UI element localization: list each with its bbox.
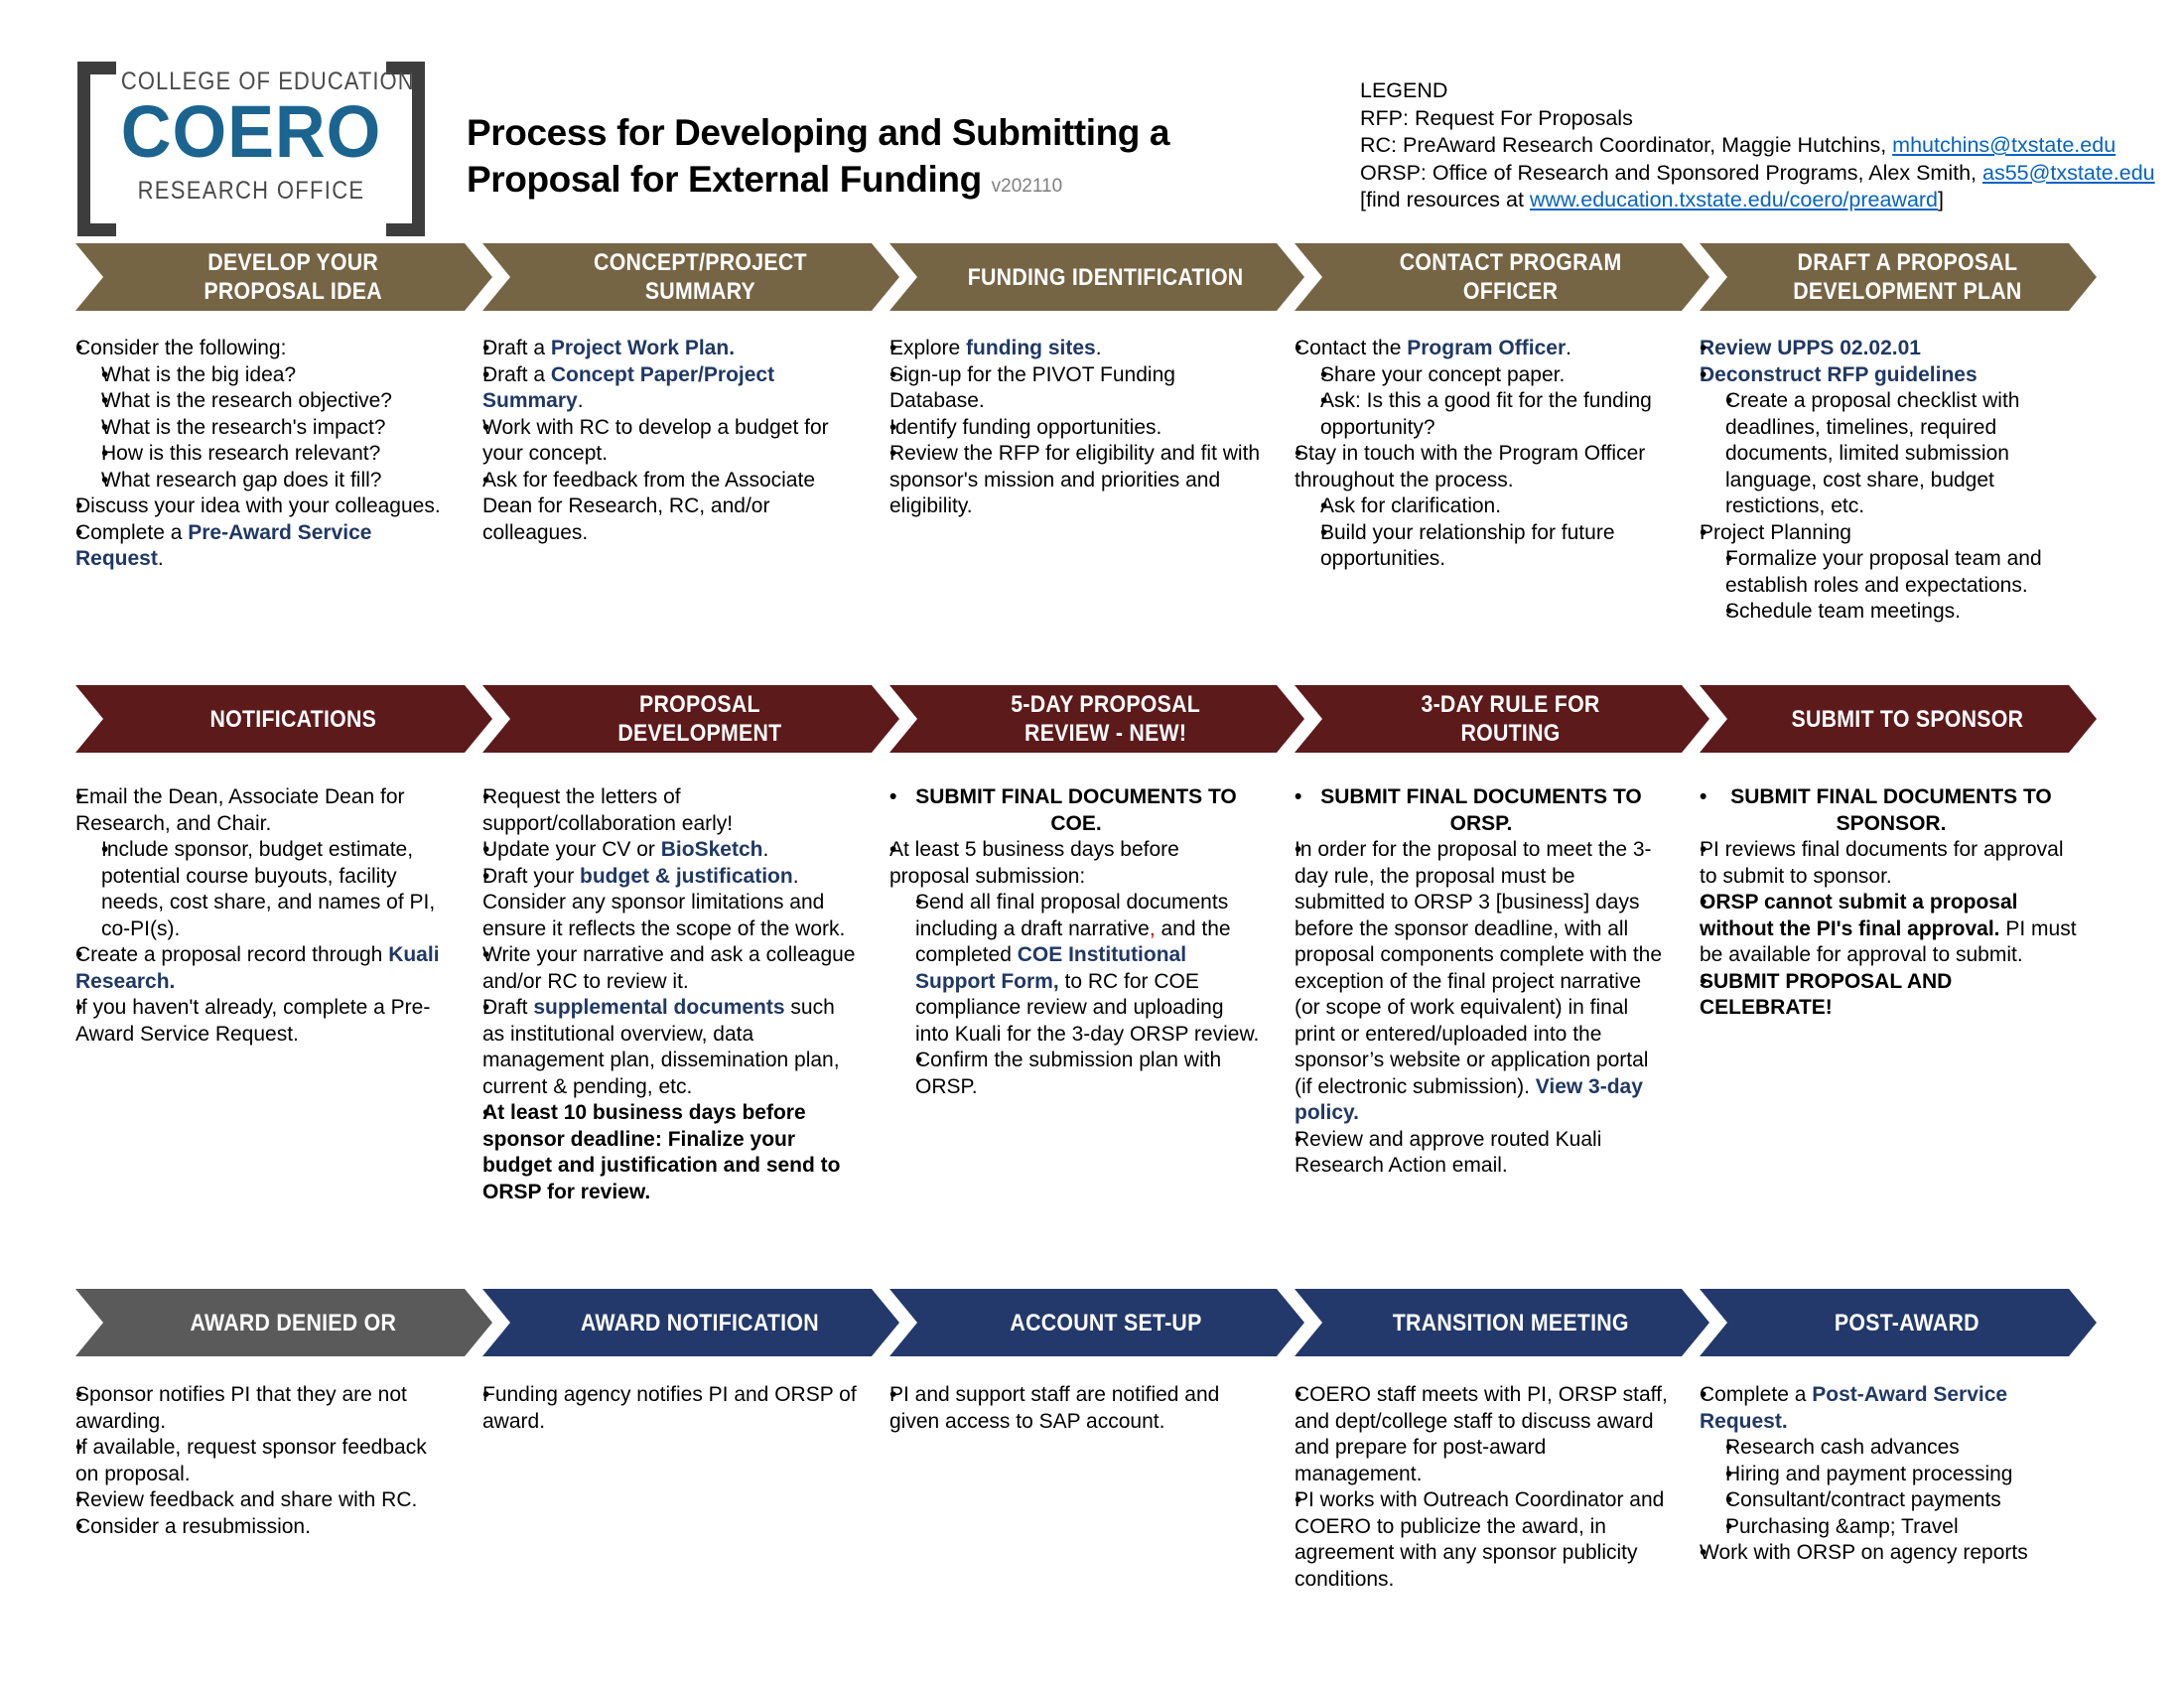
list-item-text: ORSP cannot submit a proposal without th… [1700, 890, 2083, 969]
list-item-text: In order for the proposal to meet the 3-… [1295, 837, 1668, 1127]
legend-resources-prefix: [find resources at [1360, 188, 1530, 211]
list-item: Contact the Program Officer.Share your c… [1281, 336, 1668, 441]
list-item-text: Consultant/contract payments [1725, 1487, 2083, 1514]
chevron-label: 5-DAY PROPOSAL REVIEW - NEW! [1012, 690, 1201, 748]
list-item-text: Review feedback and share with RC. [75, 1487, 447, 1514]
list-item-text: Complete a Pre-Award Service Request. [75, 520, 447, 573]
list-item: Build your relationship for future oppor… [1306, 520, 1668, 573]
bullet-sublist: Formalize your proposal team and establi… [1711, 546, 2083, 626]
list-item: COERO staff meets with PI, ORSP staff, a… [1281, 1382, 1668, 1487]
chevron-label: FUNDING IDENTIFICATION [968, 263, 1244, 292]
chevron-label: ACCOUNT SET-UP [1010, 1309, 1201, 1337]
legend-rfp: RFP: Request For Proposals [1360, 105, 2155, 133]
legend-rc-email-link[interactable]: mhutchins@txstate.edu [1892, 133, 2116, 157]
list-item-text: Sponsor notifies PI that they are not aw… [75, 1382, 447, 1435]
column-row-2-4: SUBMIT FINAL DOCUMENTS TO ORSP.In order … [1281, 784, 1668, 1180]
bullet-list: SUBMIT FINAL DOCUMENTS TO SPONSOR.PI rev… [1686, 784, 2083, 1022]
row-3-chevron-band: AWARD DENIED ORAWARD NOTIFICATIONACCOUNT… [75, 1289, 2097, 1356]
list-item: What is the big idea? [87, 362, 447, 389]
version-label: v202110 [992, 176, 1063, 197]
list-item-text: Build your relationship for future oppor… [1320, 520, 1668, 573]
chevron-row-3-4[interactable]: TRANSITION MEETING [1295, 1289, 1709, 1356]
chevron-row-1-1[interactable]: DEVELOP YOUR PROPOSAL IDEA [75, 243, 492, 311]
bullet-list: Explore funding sites.Sign-up for the PI… [876, 336, 1263, 520]
legend-resources-link[interactable]: www.education.txstate.edu/coero/preaward [1530, 188, 1938, 211]
list-item: Consider a resubmission. [62, 1514, 447, 1541]
bullet-list: Sponsor notifies PI that they are not aw… [62, 1382, 447, 1540]
list-item-text: Explore funding sites. [889, 336, 1263, 362]
legend-orsp: ORSP: Office of Research and Sponsored P… [1360, 160, 2155, 188]
chevron-row-1-5[interactable]: DRAFT A PROPOSAL DEVELOPMENT PLAN [1700, 243, 2097, 311]
chevron-label: AWARD NOTIFICATION [581, 1309, 819, 1337]
page-title: Process for Developing and Submitting a … [467, 109, 1320, 210]
infographic-page: COLLEGE OF EDUCATION COERO RESEARCH OFFI… [0, 0, 2184, 1688]
logo-research-office-text: RESEARCH OFFICE [121, 177, 381, 206]
column-row-3-2: Funding agency notifies PI and ORSP of a… [469, 1382, 858, 1435]
list-item: Draft supplemental documents such as ins… [469, 995, 858, 1100]
list-item: Discuss your idea with your colleagues. [62, 493, 447, 520]
chevron-row-1-2[interactable]: CONCEPT/PROJECT SUMMARY [482, 243, 899, 311]
chevron-label: SUBMIT TO SPONSOR [1791, 705, 2023, 734]
list-item: Ask for clarification. [1306, 493, 1668, 520]
list-item-text: Update your CV or BioSketch. [482, 837, 858, 864]
list-item-text: What is the big idea? [101, 362, 447, 389]
list-item-text: Deconstruct RFP guidelines [1700, 362, 2083, 389]
list-item-text: Ask for feedback from the Associate Dean… [482, 468, 858, 547]
bullet-sublist: Research cash advancesHiring and payment… [1711, 1435, 2083, 1540]
chevron-label: DEVELOP YOUR PROPOSAL IDEA [204, 248, 381, 306]
list-item: If you haven't already, complete a Pre-A… [62, 995, 447, 1048]
list-item: Purchasing &amp; Travel [1711, 1514, 2083, 1541]
list-item: Identify funding opportunities. [876, 415, 1263, 442]
chevron-row-3-5[interactable]: POST-AWARD [1700, 1289, 2097, 1356]
list-item: Formalize your proposal team and establi… [1711, 546, 2083, 599]
list-item-text: SUBMIT FINAL DOCUMENTS TO SPONSOR. [1700, 784, 2083, 837]
legend-heading: LEGEND [1360, 77, 2155, 105]
list-item: PI reviews final documents for approval … [1686, 837, 2083, 890]
column-row-2-2: Request the letters of support/collabora… [469, 784, 858, 1205]
chevron-row-3-3[interactable]: ACCOUNT SET-UP [889, 1289, 1304, 1356]
list-item: Send all final proposal documents includ… [901, 890, 1263, 1048]
page-title-line-2: Proposal for External Funding [467, 159, 982, 200]
list-item-text: Draft your budget & justification. Consi… [482, 864, 858, 943]
list-item-text: Research cash advances [1725, 1435, 2083, 1462]
list-item: Ask for feedback from the Associate Dean… [469, 468, 858, 547]
list-item-text: Schedule team meetings. [1725, 599, 2083, 626]
list-item: Complete a Post-Award Service Request.Re… [1686, 1382, 2083, 1540]
chevron-label: NOTIFICATIONS [209, 705, 376, 734]
list-item: PI works with Outreach Coordinator and C… [1281, 1487, 1668, 1593]
list-item: Consultant/contract payments [1711, 1487, 2083, 1514]
list-item-text: Send all final proposal documents includ… [915, 890, 1263, 1048]
list-item-text: COERO staff meets with PI, ORSP staff, a… [1295, 1382, 1668, 1487]
column-row-1-2: Draft a Project Work Plan.Draft a Concep… [469, 336, 858, 546]
list-item-text: Review and approve routed Kuali Research… [1295, 1127, 1668, 1180]
legend-orsp-email-link[interactable]: as55@txstate.edu [1982, 161, 2155, 185]
list-item-text: Formalize your proposal team and establi… [1725, 546, 2083, 599]
list-item: ORSP cannot submit a proposal without th… [1686, 890, 2083, 969]
list-item: Create a proposal record through Kuali R… [62, 942, 447, 995]
bullet-list: Consider the following:What is the big i… [62, 336, 447, 573]
list-item-text: Stay in touch with the Program Officer t… [1295, 441, 1668, 493]
bullet-list: SUBMIT FINAL DOCUMENTS TO COE.At least 5… [876, 784, 1263, 1100]
list-item: Include sponsor, budget estimate, potent… [87, 837, 447, 942]
chevron-row-3-2[interactable]: AWARD NOTIFICATION [482, 1289, 899, 1356]
list-item: Hiring and payment processing [1711, 1462, 2083, 1488]
column-row-1-1: Consider the following:What is the big i… [62, 336, 447, 573]
column-row-3-4: COERO staff meets with PI, ORSP staff, a… [1281, 1382, 1668, 1593]
list-item: Schedule team meetings. [1711, 599, 2083, 626]
list-item-text: Work with RC to develop a budget for you… [482, 415, 858, 468]
chevron-row-3-1[interactable]: AWARD DENIED OR [75, 1289, 492, 1356]
column-row-3-1: Sponsor notifies PI that they are not aw… [62, 1382, 447, 1540]
list-item-text: If available, request sponsor feedback o… [75, 1435, 447, 1487]
chevron-label: AWARD DENIED OR [190, 1309, 396, 1337]
list-item-text: Write your narrative and ask a colleague… [482, 942, 858, 995]
list-item: Stay in touch with the Program Officer t… [1281, 441, 1668, 573]
list-item-text: Identify funding opportunities. [889, 415, 1263, 442]
column-row-1-3: Explore funding sites.Sign-up for the PI… [876, 336, 1263, 520]
legend-orsp-text: ORSP: Office of Research and Sponsored P… [1360, 161, 1982, 185]
list-item-text: Sign-up for the PIVOT Funding Database. [889, 362, 1263, 415]
list-item-text: Discuss your idea with your colleagues. [75, 493, 447, 520]
column-row-2-3: SUBMIT FINAL DOCUMENTS TO COE.At least 5… [876, 784, 1263, 1100]
list-item-text: Request the letters of support/collabora… [482, 784, 858, 837]
column-row-1-5: Review UPPS 02.02.01Deconstruct RFP guid… [1686, 336, 2083, 626]
column-row-3-5: Complete a Post-Award Service Request.Re… [1686, 1382, 2083, 1567]
list-item: Sponsor notifies PI that they are not aw… [62, 1382, 447, 1435]
list-item-text: Work with ORSP on agency reports [1700, 1540, 2083, 1567]
list-item: Update your CV or BioSketch. [469, 837, 858, 864]
list-item: If available, request sponsor feedback o… [62, 1435, 447, 1487]
bullet-list: Draft a Project Work Plan.Draft a Concep… [469, 336, 858, 546]
legend-rc: RC: PreAward Research Coordinator, Maggi… [1360, 132, 2155, 160]
bullet-sublist: Ask for clarification.Build your relatio… [1306, 493, 1668, 573]
legend-resources-suffix: ] [1938, 188, 1944, 211]
list-item-text: PI reviews final documents for approval … [1700, 837, 2083, 890]
list-item: Draft your budget & justification. Consi… [469, 864, 858, 943]
list-item: Work with RC to develop a budget for you… [469, 415, 858, 468]
bullet-sublist: What is the big idea?What is the researc… [87, 362, 447, 494]
bullet-list: PI and support staff are notified and gi… [876, 1382, 1263, 1435]
legend-resources: [find resources at www.education.txstate… [1360, 187, 2155, 214]
bullet-list: COERO staff meets with PI, ORSP staff, a… [1281, 1382, 1668, 1593]
document-header: COLLEGE OF EDUCATION COERO RESEARCH OFFI… [0, 0, 2184, 230]
list-item-text: Review UPPS 02.02.01 [1700, 336, 2083, 362]
chevron-row-2-1[interactable]: NOTIFICATIONS [75, 685, 492, 753]
list-item: Draft a Concept Paper/Project Summary. [469, 362, 858, 415]
list-item-text: Complete a Post-Award Service Request. [1700, 1382, 2083, 1435]
chevron-row-2-3[interactable]: 5-DAY PROPOSAL REVIEW - NEW! [889, 685, 1304, 753]
list-item-text: Create a proposal record through Kuali R… [75, 942, 447, 995]
list-item-text: At least 5 business days before proposal… [889, 837, 1263, 890]
chevron-row-1-3[interactable]: FUNDING IDENTIFICATION [889, 243, 1304, 311]
list-item: Research cash advances [1711, 1435, 2083, 1462]
list-item: Request the letters of support/collabora… [469, 784, 858, 837]
list-item: Create a proposal checklist with deadlin… [1711, 388, 2083, 520]
list-item-text: At least 10 business days before sponsor… [482, 1100, 858, 1205]
chevron-label: CONTACT PROGRAM OFFICER [1400, 248, 1622, 306]
list-item: Share your concept paper. [1306, 362, 1668, 389]
list-item-text: SUBMIT PROPOSAL AND CELEBRATE! [1700, 969, 2083, 1022]
chevron-label: DRAFT A PROPOSAL DEVELOPMENT PLAN [1793, 248, 2021, 306]
list-item-text: What is the research objective? [101, 388, 447, 415]
list-item: Confirm the submission plan with ORSP. [901, 1048, 1263, 1100]
list-item: Project PlanningFormalize your proposal … [1686, 520, 2083, 626]
row-1-chevron-band: DEVELOP YOUR PROPOSAL IDEACONCEPT/PROJEC… [75, 243, 2097, 311]
list-item: PI and support staff are notified and gi… [876, 1382, 1263, 1435]
list-item: Complete a Pre-Award Service Request. [62, 520, 447, 573]
list-item: In order for the proposal to meet the 3-… [1281, 837, 1668, 1127]
bullet-list: Contact the Program Officer.Share your c… [1281, 336, 1668, 573]
column-row-2-1: Email the Dean, Associate Dean for Resea… [62, 784, 447, 1048]
list-item-text: Include sponsor, budget estimate, potent… [101, 837, 447, 942]
list-item: SUBMIT FINAL DOCUMENTS TO SPONSOR. [1686, 784, 2083, 837]
legend-rc-text: RC: PreAward Research Coordinator, Maggi… [1360, 133, 1892, 157]
bullet-list: Review UPPS 02.02.01Deconstruct RFP guid… [1686, 336, 2083, 626]
list-item: At least 10 business days before sponsor… [469, 1100, 858, 1205]
list-item: Review and approve routed Kuali Research… [1281, 1127, 1668, 1180]
list-item: Work with ORSP on agency reports [1686, 1540, 2083, 1567]
list-item-text: SUBMIT FINAL DOCUMENTS TO ORSP. [1295, 784, 1668, 837]
list-item-text: What is the research's impact? [101, 415, 447, 442]
bullet-list: SUBMIT FINAL DOCUMENTS TO ORSP.In order … [1281, 784, 1668, 1180]
bullet-sublist: Include sponsor, budget estimate, potent… [87, 837, 447, 942]
bullet-sublist: Create a proposal checklist with deadlin… [1711, 388, 2083, 520]
bullet-sublist: Share your concept paper.Ask: Is this a … [1306, 362, 1668, 442]
list-item-text: Consider a resubmission. [75, 1514, 447, 1541]
bullet-sublist: Send all final proposal documents includ… [901, 890, 1263, 1100]
list-item: Review the RFP for eligibility and fit w… [876, 441, 1263, 520]
list-item: Deconstruct RFP guidelinesCreate a propo… [1686, 362, 2083, 520]
list-item: SUBMIT FINAL DOCUMENTS TO ORSP. [1281, 784, 1668, 837]
chevron-row-2-4[interactable]: 3-DAY RULE FOR ROUTING [1295, 685, 1709, 753]
chevron-label: 3-DAY RULE FOR ROUTING [1422, 690, 1600, 748]
list-item-text: Share your concept paper. [1320, 362, 1668, 389]
list-item: What is the research objective? [87, 388, 447, 415]
list-item-text: Project Planning [1700, 520, 2083, 547]
chevron-label: TRANSITION MEETING [1393, 1309, 1629, 1337]
list-item-text: Draft a Concept Paper/Project Summary. [482, 362, 858, 415]
chevron-label: POST-AWARD [1835, 1309, 1979, 1337]
list-item: Explore funding sites. [876, 336, 1263, 362]
chevron-label: CONCEPT/PROJECT SUMMARY [594, 248, 807, 306]
list-item-text: Create a proposal checklist with deadlin… [1725, 388, 2083, 520]
logo-coero-text: COERO [110, 89, 391, 175]
bullet-list: Funding agency notifies PI and ORSP of a… [469, 1382, 858, 1435]
list-item-text: If you haven't already, complete a Pre-A… [75, 995, 447, 1048]
chevron-row-2-5[interactable]: SUBMIT TO SPONSOR [1700, 685, 2097, 753]
column-row-3-3: PI and support staff are notified and gi… [876, 1382, 1263, 1435]
list-item: Draft a Project Work Plan. [469, 336, 858, 362]
list-item-text: Ask for clarification. [1320, 493, 1668, 520]
list-item-text: Draft supplemental documents such as ins… [482, 995, 858, 1100]
list-item: Ask: Is this a good fit for the funding … [1306, 388, 1668, 441]
list-item-text: Hiring and payment processing [1725, 1462, 2083, 1488]
list-item-text: PI works with Outreach Coordinator and C… [1295, 1487, 1668, 1593]
chevron-label: PROPOSAL DEVELOPMENT [617, 690, 781, 748]
list-item: How is this research relevant? [87, 441, 447, 468]
column-row-2-5: SUBMIT FINAL DOCUMENTS TO SPONSOR.PI rev… [1686, 784, 2083, 1022]
list-item-text: How is this research relevant? [101, 441, 447, 468]
legend: LEGEND RFP: Request For Proposals RC: Pr… [1360, 77, 2155, 214]
list-item: Funding agency notifies PI and ORSP of a… [469, 1382, 858, 1435]
list-item-text: Ask: Is this a good fit for the funding … [1320, 388, 1668, 441]
column-row-1-4: Contact the Program Officer.Share your c… [1281, 336, 1668, 573]
list-item-text: Confirm the submission plan with ORSP. [915, 1048, 1263, 1100]
list-item: SUBMIT PROPOSAL AND CELEBRATE! [1686, 969, 2083, 1022]
chevron-row-1-4[interactable]: CONTACT PROGRAM OFFICER [1295, 243, 1709, 311]
list-item: Review UPPS 02.02.01 [1686, 336, 2083, 362]
page-title-line-1: Process for Developing and Submitting a [467, 109, 1320, 156]
list-item-text: Contact the Program Officer. [1295, 336, 1668, 362]
list-item: Review feedback and share with RC. [62, 1487, 447, 1514]
chevron-row-2-2[interactable]: PROPOSAL DEVELOPMENT [482, 685, 899, 753]
coero-logo: COLLEGE OF EDUCATION COERO RESEARCH OFFI… [77, 62, 425, 211]
list-item: At least 5 business days before proposal… [876, 837, 1263, 1100]
list-item: Email the Dean, Associate Dean for Resea… [62, 784, 447, 942]
list-item-text: Draft a Project Work Plan. [482, 336, 858, 362]
list-item-text: PI and support staff are notified and gi… [889, 1382, 1263, 1435]
list-item-text: Purchasing &amp; Travel [1725, 1514, 2083, 1541]
list-item-text: SUBMIT FINAL DOCUMENTS TO COE. [889, 784, 1263, 837]
bullet-list: Email the Dean, Associate Dean for Resea… [62, 784, 447, 1048]
list-item-text: Email the Dean, Associate Dean for Resea… [75, 784, 447, 837]
list-item: Write your narrative and ask a colleague… [469, 942, 858, 995]
row-2-chevron-band: NOTIFICATIONSPROPOSAL DEVELOPMENT5-DAY P… [75, 685, 2097, 753]
list-item-text: Review the RFP for eligibility and fit w… [889, 441, 1263, 520]
page-title-line-2-wrap: Proposal for External Funding v202110 [467, 156, 1320, 210]
list-item: Sign-up for the PIVOT Funding Database. [876, 362, 1263, 415]
list-item: What is the research's impact? [87, 415, 447, 442]
list-item: Consider the following:What is the big i… [62, 336, 447, 493]
list-item-text: Funding agency notifies PI and ORSP of a… [482, 1382, 858, 1435]
list-item-text: Consider the following: [75, 336, 447, 362]
bullet-list: Complete a Post-Award Service Request.Re… [1686, 1382, 2083, 1567]
bullet-list: Request the letters of support/collabora… [469, 784, 858, 1205]
list-item: SUBMIT FINAL DOCUMENTS TO COE. [876, 784, 1263, 837]
list-item-text: What research gap does it fill? [101, 468, 447, 494]
list-item: What research gap does it fill? [87, 468, 447, 494]
